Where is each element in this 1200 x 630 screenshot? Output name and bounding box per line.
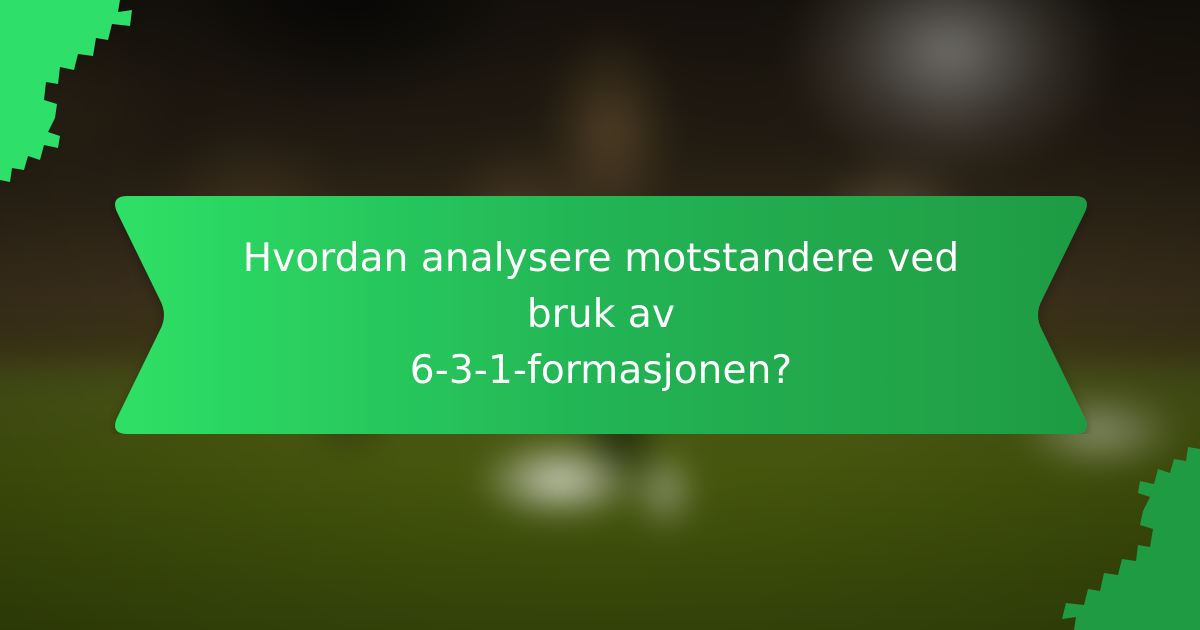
headline-line-2: 6-3-1-formasjonen? xyxy=(410,343,792,399)
share-card: Hvordan analysere motstandere ved bruk a… xyxy=(0,0,1200,630)
headline-banner: Hvordan analysere motstandere ved bruk a… xyxy=(110,196,1092,434)
headline-text: Hvordan analysere motstandere ved bruk a… xyxy=(110,196,1092,434)
headline-line-1: Hvordan analysere motstandere ved bruk a… xyxy=(200,231,1002,343)
